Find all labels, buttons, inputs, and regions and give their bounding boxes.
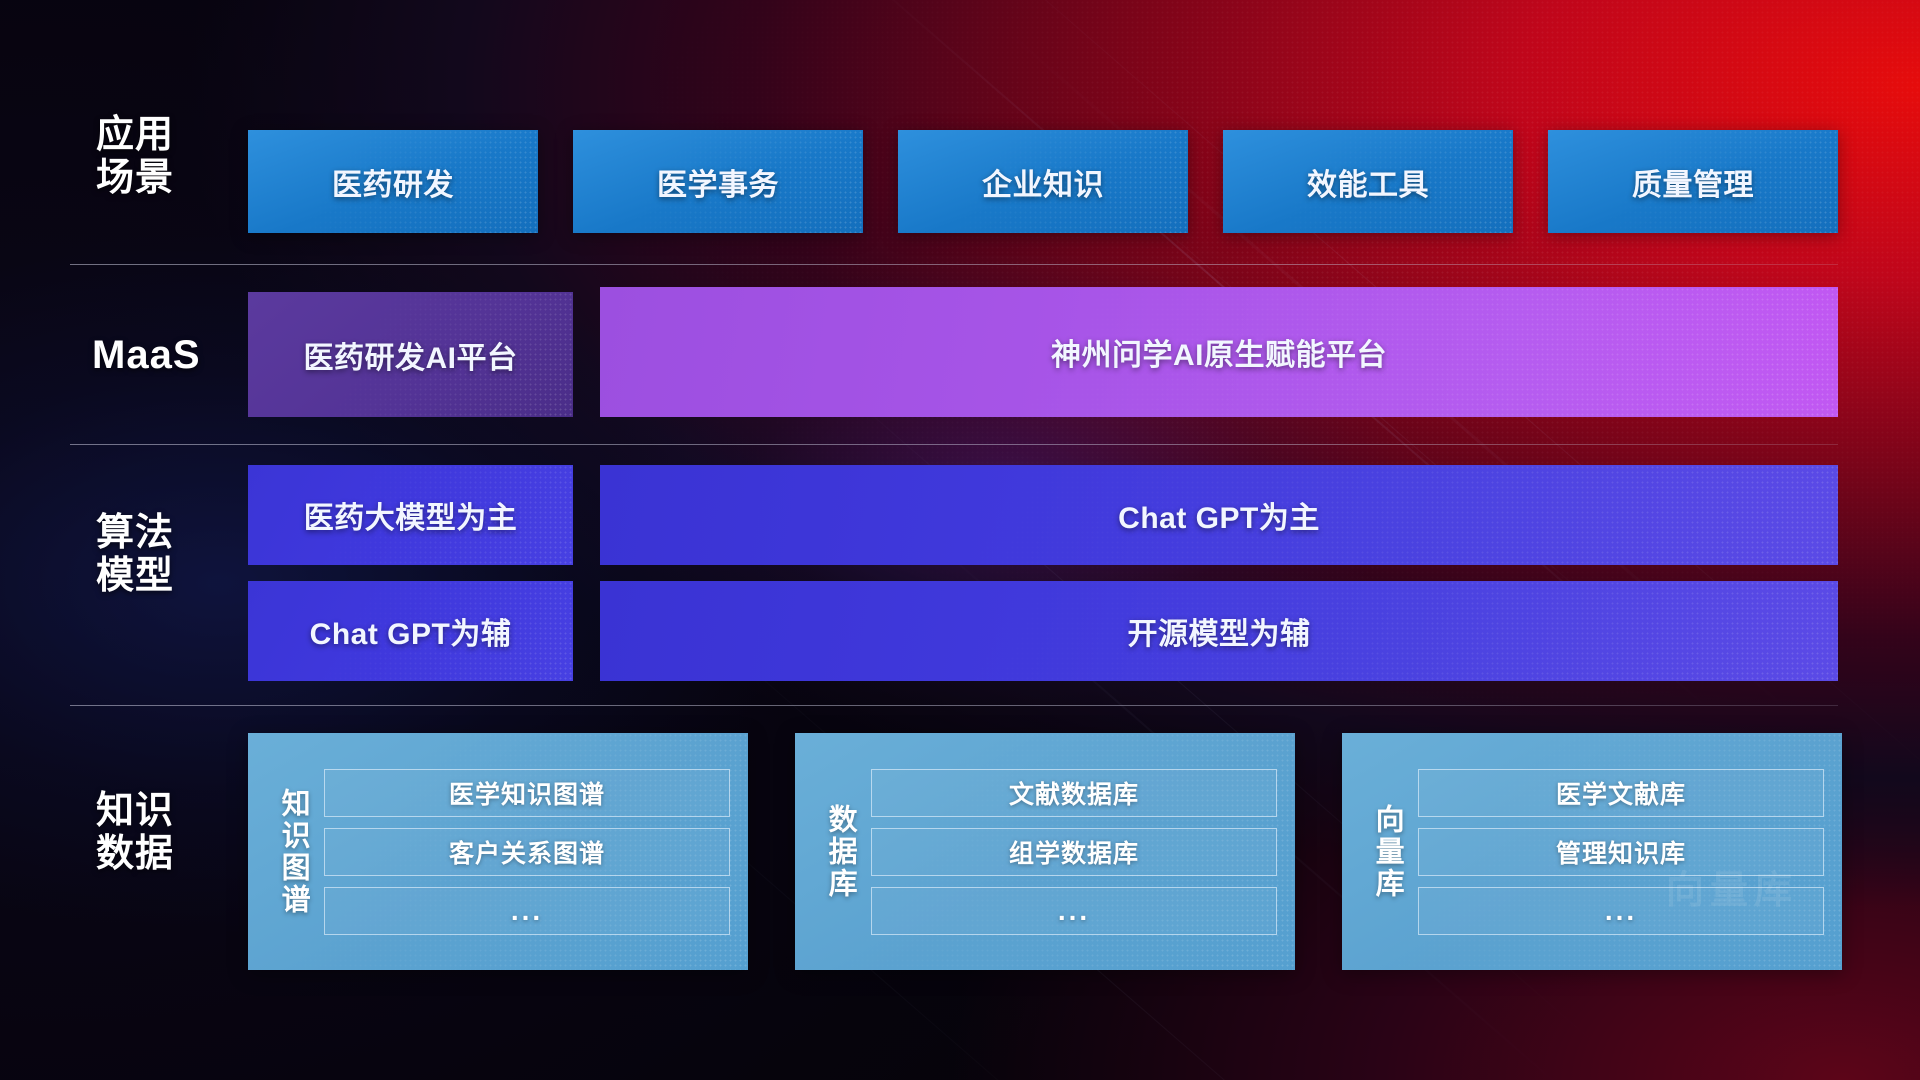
algorithm-card-right-1[interactable]: Chat GPT为主 — [600, 465, 1838, 565]
row-label-scenarios-line1: 应用 — [96, 114, 246, 157]
divider-maas-algorithm — [70, 444, 1838, 445]
row-label-scenarios-line2: 场景 — [96, 157, 246, 200]
maas-card-shenzhou-platform-label: 神州问学AI原生赋能平台 — [1051, 330, 1387, 374]
knowledge-item-vector-more[interactable]: ... — [1418, 887, 1824, 935]
knowledge-item-literature-db-label: 文献数据库 — [1009, 775, 1139, 811]
knowledge-panel-vector[interactable]: 向量库 向量库 医学文献库 管理知识库 ... — [1342, 733, 1842, 970]
knowledge-panel-vector-items: 医学文献库 管理知识库 ... — [1418, 769, 1824, 935]
scenario-card-4-label: 效能工具 — [1307, 160, 1429, 204]
maas-card-pharma-ai-platform-label: 医药研发AI平台 — [304, 333, 518, 377]
algorithm-card-left-2[interactable]: Chat GPT为辅 — [248, 581, 573, 681]
knowledge-item-graph-more[interactable]: ... — [324, 887, 730, 935]
knowledge-item-medical-literature[interactable]: 医学文献库 — [1418, 769, 1824, 817]
scenario-card-2-label: 医学事务 — [657, 160, 779, 204]
scenario-card-1[interactable]: 医药研发 — [248, 130, 538, 233]
divider-algorithm-knowledge — [70, 705, 1838, 706]
scenario-card-4[interactable]: 效能工具 — [1223, 130, 1513, 233]
knowledge-panel-database-title: 数据库 — [809, 804, 871, 900]
row-label-knowledge-line1: 知识 — [96, 790, 246, 833]
algorithm-card-left-2-label: Chat GPT为辅 — [310, 609, 512, 653]
knowledge-panel-graph[interactable]: 知识图谱 医学知识图谱 客户关系图谱 ... — [248, 733, 748, 970]
scenario-card-2[interactable]: 医学事务 — [573, 130, 863, 233]
row-label-maas-text: MaaS — [92, 333, 272, 378]
row-label-algorithm-line2: 模型 — [96, 555, 246, 598]
divider-scenarios-maas — [70, 264, 1838, 265]
knowledge-item-medical-literature-label: 医学文献库 — [1556, 775, 1686, 811]
algorithm-card-left-1[interactable]: 医药大模型为主 — [248, 465, 573, 565]
scenario-card-3-label: 企业知识 — [982, 160, 1104, 204]
knowledge-item-vector-more-label: ... — [1605, 895, 1637, 927]
knowledge-item-literature-db[interactable]: 文献数据库 — [871, 769, 1277, 817]
maas-card-shenzhou-platform[interactable]: 神州问学AI原生赋能平台 — [600, 287, 1838, 417]
scenario-card-1-label: 医药研发 — [332, 160, 454, 204]
knowledge-item-medical-graph-label: 医学知识图谱 — [449, 775, 605, 811]
knowledge-item-management-kb-label: 管理知识库 — [1556, 834, 1686, 870]
knowledge-item-omics-db[interactable]: 组学数据库 — [871, 828, 1277, 876]
row-label-algorithm-line1: 算法 — [96, 512, 246, 555]
knowledge-panel-vector-title: 向量库 — [1356, 804, 1418, 900]
knowledge-panel-database-items: 文献数据库 组学数据库 ... — [871, 769, 1277, 935]
knowledge-item-database-more[interactable]: ... — [871, 887, 1277, 935]
algorithm-card-right-2-label: 开源模型为辅 — [1128, 609, 1311, 653]
knowledge-panel-graph-items: 医学知识图谱 客户关系图谱 ... — [324, 769, 730, 935]
row-label-maas: MaaS — [92, 333, 272, 378]
knowledge-item-medical-graph[interactable]: 医学知识图谱 — [324, 769, 730, 817]
algorithm-card-left-1-label: 医药大模型为主 — [304, 493, 518, 537]
scenario-card-5[interactable]: 质量管理 — [1548, 130, 1838, 233]
algorithm-card-right-1-label: Chat GPT为主 — [1118, 493, 1320, 537]
knowledge-item-management-kb[interactable]: 管理知识库 — [1418, 828, 1824, 876]
knowledge-item-database-more-label: ... — [1058, 895, 1090, 927]
row-label-scenarios: 应用 场景 — [96, 114, 246, 199]
scenario-card-5-label: 质量管理 — [1632, 160, 1754, 204]
knowledge-item-graph-more-label: ... — [511, 895, 543, 927]
maas-card-pharma-ai-platform[interactable]: 医药研发AI平台 — [248, 292, 573, 417]
row-label-knowledge-line2: 数据 — [96, 833, 246, 876]
knowledge-item-omics-db-label: 组学数据库 — [1009, 834, 1139, 870]
knowledge-item-customer-graph-label: 客户关系图谱 — [449, 834, 605, 870]
scenario-card-3[interactable]: 企业知识 — [898, 130, 1188, 233]
algorithm-card-right-2[interactable]: 开源模型为辅 — [600, 581, 1838, 681]
knowledge-panel-database[interactable]: 数据库 文献数据库 组学数据库 ... — [795, 733, 1295, 970]
row-label-algorithm: 算法 模型 — [96, 512, 246, 597]
knowledge-panel-graph-title: 知识图谱 — [262, 788, 324, 916]
knowledge-item-customer-graph[interactable]: 客户关系图谱 — [324, 828, 730, 876]
row-label-knowledge: 知识 数据 — [96, 790, 246, 875]
